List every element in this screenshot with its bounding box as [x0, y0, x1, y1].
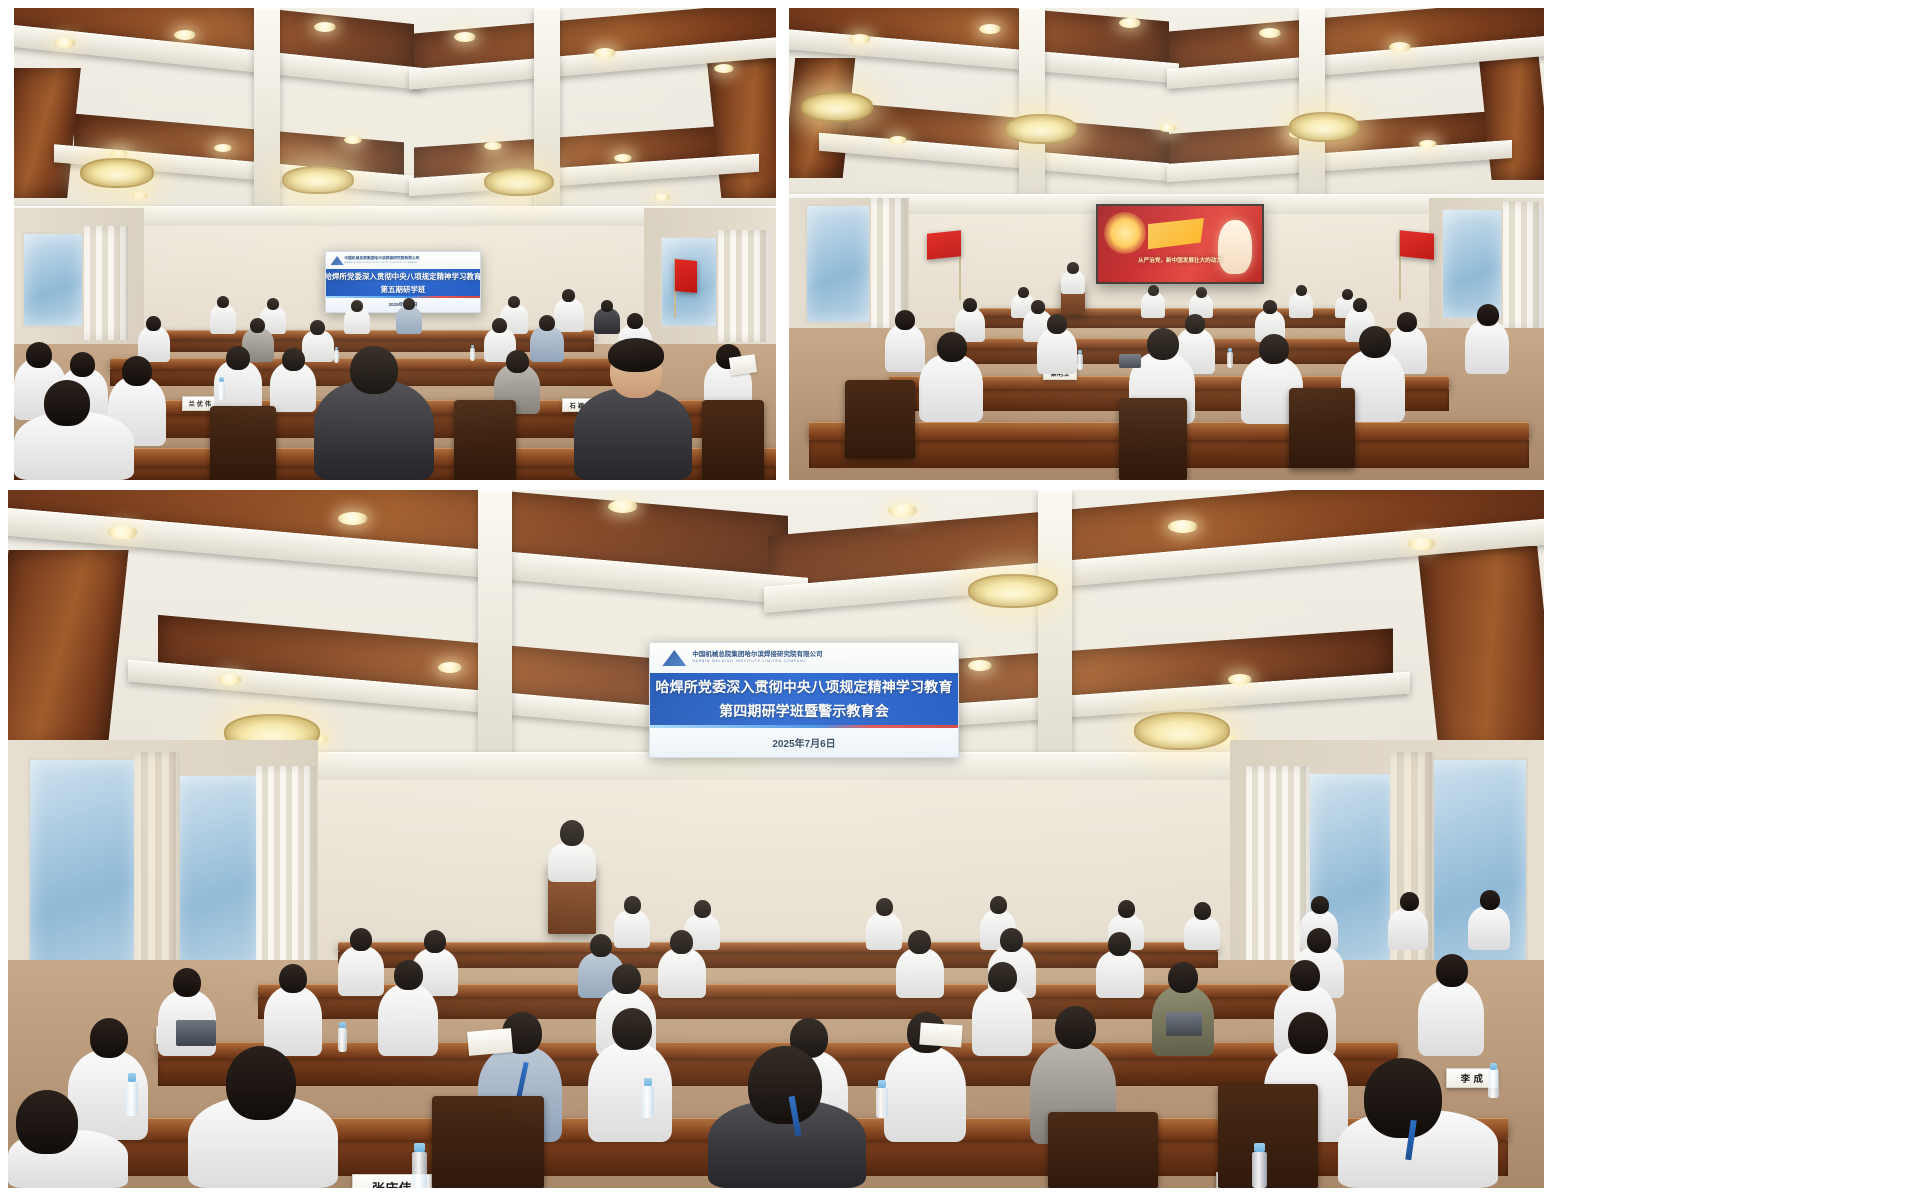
- attendee-head: [1436, 954, 1468, 987]
- downlight: [608, 500, 638, 513]
- attendee: [614, 910, 650, 948]
- attendee-head: [1307, 928, 1331, 953]
- screen-title-line2: 第四期研学班暨警示教育会: [719, 701, 889, 721]
- attendee-head: [539, 315, 555, 331]
- curtain: [1503, 202, 1543, 330]
- attendee-head: [1055, 1006, 1096, 1049]
- room-scene-top-left: 中国机械总院集团哈尔滨焊接研究院有限公司 HARBIN WELDING INST…: [14, 8, 776, 480]
- attendee-head: [394, 960, 423, 990]
- downlight: [454, 32, 476, 42]
- downlight: [214, 144, 232, 152]
- screen-logo-bar: 中国机械总院集团哈尔滨焊接研究院有限公司 HARBIN WELDING INST…: [326, 252, 480, 269]
- ceiling-lamp: [801, 92, 873, 122]
- downlight: [979, 24, 1001, 34]
- attendee: [378, 984, 438, 1056]
- downlight: [888, 504, 918, 517]
- attendee-foreground: [574, 388, 692, 480]
- downlight: [218, 674, 242, 685]
- attendee-head: [173, 968, 201, 997]
- attendee-head: [1400, 892, 1419, 911]
- company-name-cn: 中国机械总院集团哈尔滨焊接研究院有限公司: [344, 257, 419, 261]
- screen-title-band: 哈焊所党委深入贯彻中央八项规定精神学习教育 第五期研学班: [326, 269, 480, 296]
- attendee-head: [694, 900, 711, 918]
- screen-date-box: 2025年7月6日: [650, 728, 958, 757]
- attendee-head: [895, 310, 915, 330]
- ceiling-beam: [1019, 8, 1045, 198]
- attendee-head: [1353, 298, 1367, 312]
- attendee-head: [1148, 285, 1159, 296]
- attendee-head: [70, 352, 95, 377]
- company-logo-icon: [662, 650, 686, 666]
- downlight: [1159, 124, 1177, 132]
- attendee-head: [876, 898, 893, 916]
- attendee: [1388, 908, 1428, 950]
- water-bottle: [876, 1088, 888, 1118]
- attendee-head: [16, 1090, 78, 1154]
- water-bottle: [1488, 1070, 1499, 1098]
- window: [805, 204, 871, 324]
- attendee-head: [1196, 287, 1207, 298]
- chinese-flag: [675, 259, 697, 293]
- attendee-head: [1397, 312, 1417, 332]
- attendee-head: [1031, 300, 1045, 314]
- screen-date: 2025年7月6日: [772, 735, 835, 750]
- downlight: [968, 660, 992, 671]
- attendee: [338, 946, 384, 996]
- ceiling-lamp: [1134, 712, 1230, 750]
- curtain: [718, 230, 770, 342]
- attendee: [884, 1046, 966, 1142]
- attendee-head: [267, 298, 279, 310]
- laptop: [1166, 1012, 1202, 1036]
- attendee-foreground: [314, 380, 434, 480]
- downlight: [1419, 140, 1437, 148]
- attendee-head: [748, 1046, 822, 1124]
- attendee-head: [1147, 328, 1179, 360]
- attendee-head: [670, 930, 693, 954]
- attendee: [588, 1042, 672, 1142]
- curtain: [84, 226, 128, 340]
- attendee-foreground: [919, 354, 983, 422]
- attendee-head: [1288, 1012, 1328, 1054]
- downlight: [174, 30, 196, 40]
- downlight: [1119, 18, 1141, 28]
- led-caption: 从严治党，新中国发展壮大的动力: [1098, 256, 1262, 264]
- attendee: [896, 948, 944, 998]
- attendee-head: [1000, 928, 1023, 952]
- attendee-head: [612, 964, 641, 994]
- party-flag-icon: [1148, 218, 1204, 252]
- attendee-head: [1359, 326, 1391, 358]
- laptop: [176, 1020, 216, 1046]
- downlight: [1259, 28, 1281, 38]
- water-bottle: [1077, 354, 1083, 370]
- water-bottle: [334, 350, 339, 363]
- ceiling-lamp: [1005, 114, 1077, 144]
- water-bottle: [412, 1152, 427, 1188]
- downlight: [1408, 538, 1436, 550]
- sun-graphic-icon: [1104, 212, 1146, 254]
- attendee-head: [226, 1046, 296, 1120]
- screen-title-line2: 第五期研学班: [381, 284, 426, 295]
- downlight: [714, 64, 734, 73]
- attendee: [658, 948, 706, 998]
- photo-top-left: 中国机械总院集团哈尔滨焊接研究院有限公司 HARBIN WELDING INST…: [14, 8, 776, 480]
- attendee-head: [279, 964, 307, 993]
- document: [919, 1023, 962, 1048]
- attendee-head: [1118, 900, 1135, 918]
- ceiling-lamp: [282, 166, 354, 194]
- attendee-head: [90, 1018, 128, 1058]
- water-bottle: [642, 1086, 654, 1118]
- room-scene-bottom: 中国机械总院集团哈尔滨焊接研究院有限公司 HARBIN WELDING INST…: [8, 490, 1544, 1188]
- photo-top-right: 从严治党，新中国发展壮大的动力 梁明玉: [789, 8, 1544, 480]
- chair: [702, 400, 764, 480]
- attendee-head: [1047, 314, 1067, 334]
- attendee-head: [1108, 932, 1131, 956]
- window: [174, 774, 262, 974]
- downlight: [889, 136, 907, 144]
- chair: [1218, 1084, 1318, 1188]
- chair: [454, 400, 516, 480]
- attendee: [530, 326, 564, 362]
- attendee-head: [1364, 1058, 1442, 1138]
- speaker-figure-graphic: [1218, 220, 1252, 274]
- attendee-head: [937, 332, 967, 362]
- ceiling-coffer: [1417, 546, 1544, 752]
- attendee-head: [350, 346, 398, 394]
- chair: [1289, 388, 1355, 468]
- document: [467, 1028, 513, 1056]
- company-name-en: HARBIN WELDING INSTITUTE LIMITED COMPANY: [692, 660, 822, 664]
- ceiling-beam: [1038, 490, 1072, 760]
- attendee: [1184, 916, 1220, 950]
- curtain: [256, 766, 316, 982]
- speaker: [548, 842, 596, 882]
- desk-front-panel: [338, 952, 1218, 968]
- attendee-head: [908, 930, 931, 954]
- document: [729, 354, 757, 375]
- chinese-flag: [927, 230, 961, 260]
- attendee-head: [217, 296, 229, 308]
- ceiling-lamp: [80, 158, 154, 188]
- attendee-head: [122, 356, 152, 386]
- water-bottle: [1227, 352, 1233, 368]
- screen-logo-bar: 中国机械总院集团哈尔滨焊接研究院有限公司 HARBIN WELDING INST…: [650, 643, 958, 673]
- water-bottle: [338, 1028, 347, 1052]
- attendee-head: [601, 300, 613, 312]
- screen-title-band: 哈焊所党委深入贯彻中央八项规定精神学习教育 第四期研学班暨警示教育会: [650, 673, 958, 725]
- attendee: [972, 986, 1032, 1056]
- company-name-cn: 中国机械总院集团哈尔滨焊接研究院有限公司: [692, 652, 822, 659]
- curtain: [1246, 766, 1310, 982]
- attendee-head: [1296, 285, 1307, 296]
- attendee-head: [624, 896, 641, 914]
- attendee: [210, 304, 236, 334]
- laptop: [1119, 354, 1141, 368]
- downlight: [849, 34, 871, 44]
- attendee-head: [1290, 960, 1320, 991]
- attendee-head: [612, 1008, 652, 1050]
- attendee-head: [963, 298, 977, 312]
- downlight: [484, 142, 502, 150]
- screen-title-line1: 哈焊所党委深入贯彻中央八项规定精神学习教育: [656, 677, 953, 697]
- attendee-head: [226, 346, 250, 370]
- attendee-head: [403, 298, 415, 310]
- attendee: [1096, 950, 1144, 998]
- downlight: [54, 38, 76, 48]
- desk-row: [338, 942, 1218, 952]
- attendee-head: [250, 318, 265, 333]
- attendee-head: [424, 930, 446, 953]
- attendee-head: [562, 289, 575, 302]
- water-bottle: [470, 348, 475, 361]
- attendee-head: [310, 320, 325, 335]
- attendee-hair: [608, 338, 664, 372]
- downlight: [108, 526, 138, 539]
- attendee-head: [26, 342, 52, 368]
- led-banner-screen: 从严治党，新中国发展壮大的动力: [1096, 204, 1264, 284]
- attendee: [264, 986, 322, 1056]
- chair: [210, 406, 276, 480]
- chair: [432, 1096, 544, 1188]
- water-bottle: [218, 382, 225, 400]
- ceiling-beam: [478, 490, 512, 760]
- window: [28, 758, 138, 988]
- attendee-head: [492, 318, 507, 333]
- attendee: [396, 306, 422, 334]
- ceiling-beam: [254, 8, 280, 208]
- downlight: [344, 136, 362, 144]
- attendee: [1418, 980, 1484, 1056]
- chair: [845, 380, 915, 458]
- attendee-head: [1311, 896, 1329, 914]
- downlight: [1389, 42, 1411, 52]
- downlight: [614, 154, 632, 162]
- attendee-head: [44, 380, 90, 426]
- attendee-head: [1480, 890, 1500, 910]
- attendee: [1037, 328, 1077, 374]
- attendee: [866, 912, 902, 950]
- attendee-head: [988, 962, 1017, 992]
- attendee-head: [350, 928, 372, 951]
- ceiling-beam: [1299, 8, 1325, 198]
- chair: [1119, 398, 1187, 480]
- attendee-head: [590, 934, 612, 957]
- window: [1441, 208, 1503, 320]
- window: [1420, 758, 1528, 986]
- attendee: [885, 324, 925, 372]
- downlight: [314, 22, 336, 32]
- downlight: [594, 48, 616, 58]
- projection-screen-panel: 中国机械总院集团哈尔滨焊接研究院有限公司 HARBIN WELDING INST…: [649, 642, 959, 758]
- speaker-head: [560, 820, 584, 846]
- ceiling-lamp: [1289, 112, 1359, 142]
- downlight: [654, 194, 670, 201]
- chair: [1048, 1112, 1158, 1188]
- downlight: [438, 662, 462, 673]
- company-logo-icon: [331, 256, 344, 265]
- attendee-head: [506, 350, 529, 373]
- room-scene-top-right: 从严治党，新中国发展壮大的动力 梁明玉: [789, 8, 1544, 480]
- attendee-head: [351, 300, 363, 312]
- attendee-head: [146, 316, 161, 331]
- downlight: [1228, 674, 1252, 685]
- ceiling-lamp: [484, 168, 554, 196]
- attendee-head: [1018, 287, 1029, 298]
- attendee-head: [508, 296, 520, 308]
- attendee-head: [1263, 300, 1277, 314]
- water-bottle: [1252, 1152, 1267, 1188]
- attendee: [1468, 906, 1510, 950]
- ceiling-lamp: [968, 574, 1058, 608]
- speaker-head: [1067, 262, 1079, 274]
- downlight: [1168, 520, 1198, 533]
- company-name-en: HARBIN WELDING INSTITUTE LIMITED COMPANY: [344, 262, 419, 264]
- water-bottle: [126, 1082, 138, 1116]
- attendee-head: [1185, 314, 1205, 334]
- screen-title-line1: 哈焊所党委深入贯彻中央八项规定精神学习教育: [325, 271, 481, 282]
- ceiling-coffer: [8, 550, 129, 750]
- attendee: [1465, 320, 1509, 374]
- attendee-head: [990, 896, 1007, 914]
- attendee-head: [1168, 962, 1198, 993]
- chinese-flag: [1400, 230, 1434, 260]
- downlight: [132, 192, 148, 199]
- photo-bottom: 中国机械总院集团哈尔滨焊接研究院有限公司 HARBIN WELDING INST…: [8, 490, 1544, 1188]
- downlight: [338, 512, 368, 525]
- attendee-head: [282, 348, 305, 371]
- window: [22, 232, 84, 328]
- photo-collage: 中国机械总院集团哈尔滨焊接研究院有限公司 HARBIN WELDING INST…: [0, 0, 1920, 1200]
- downlight: [110, 150, 128, 158]
- attendee-head: [1342, 289, 1353, 300]
- attendee-head: [627, 313, 643, 329]
- attendee-head: [1259, 334, 1289, 364]
- attendee: [554, 298, 584, 332]
- attendee-head: [1477, 304, 1499, 326]
- attendee-head: [1194, 902, 1211, 920]
